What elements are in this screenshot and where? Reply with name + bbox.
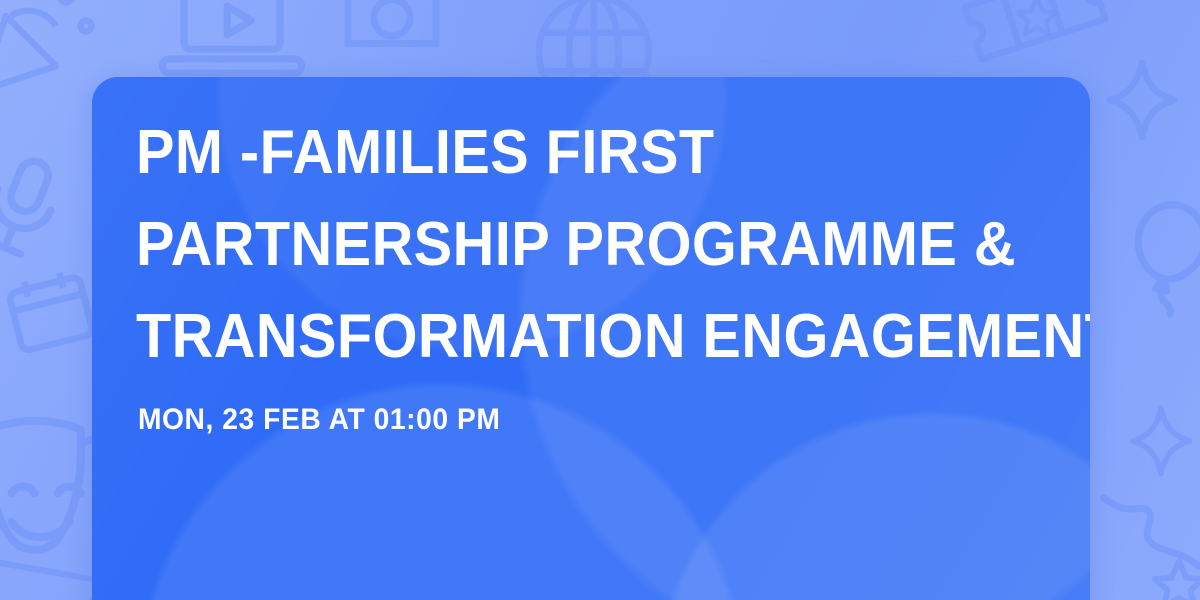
balloon-icon: [1110, 188, 1200, 326]
microphone-icon: [0, 137, 85, 273]
calendar-icon: [0, 259, 103, 362]
event-card[interactable]: PM -FAMILIES FIRST PARTNERSHIP PROGRAMME…: [92, 77, 1090, 600]
sparkle-icon: [1128, 404, 1194, 478]
card-content: PM -FAMILIES FIRST PARTNERSHIP PROGRAMME…: [136, 107, 1066, 437]
event-date: MON, 23 FEB AT 01:00 PM: [138, 403, 1010, 437]
star-icon: [1150, 556, 1200, 600]
sparkle-icon: [1105, 58, 1179, 142]
event-title-line-3: TRANSFORMATION ENGAGEMENT...: [136, 291, 1001, 383]
event-banner: PM -FAMILIES FIRST PARTNERSHIP PROGRAMME…: [0, 0, 1200, 600]
event-title-line-1: PM -FAMILIES FIRST: [136, 107, 1001, 199]
camera-icon: [340, 0, 444, 54]
star-icon: [1014, 0, 1060, 40]
laptop-icon: [152, 0, 312, 78]
event-title-line-2: PARTNERSHIP PROGRAMME &: [136, 199, 1001, 291]
confetti-icon: [0, 0, 96, 106]
event-title: PM -FAMILIES FIRST PARTNERSHIP PROGRAMME…: [136, 107, 1001, 383]
